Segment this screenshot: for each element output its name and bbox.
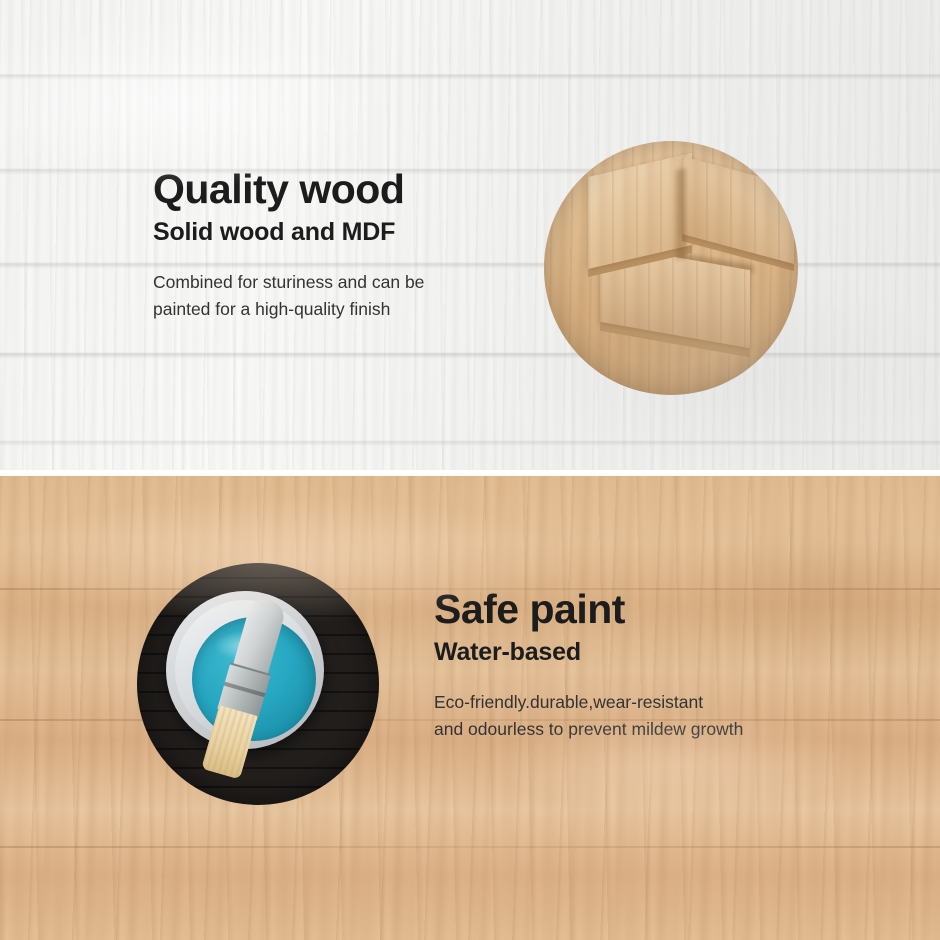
safe-paint-body-line-1: Eco-friendly.durable,wear-resistant — [434, 689, 743, 716]
safe-paint-body-line-2: and odourless to prevent mildew growth — [434, 716, 743, 743]
quality-wood-subhead: Solid wood and MDF — [153, 217, 424, 247]
paint-can-photo — [137, 563, 379, 805]
safe-paint-subhead: Water-based — [434, 637, 743, 667]
panel-quality-wood: Quality wood Solid wood and MDF Combined… — [0, 0, 940, 475]
quality-wood-headline: Quality wood — [153, 168, 424, 211]
product-feature-infographic: Quality wood Solid wood and MDF Combined… — [0, 0, 940, 940]
plank-shadow-vertical — [676, 168, 686, 259]
panel-safe-paint: Safe paint Water-based Eco-friendly.dura… — [0, 476, 940, 940]
quality-wood-body-line-1: Combined for sturiness and can be — [153, 269, 424, 296]
quality-wood-text-block: Quality wood Solid wood and MDF Combined… — [153, 168, 424, 323]
wood-plank-seam — [0, 846, 940, 848]
wood-joint-photo — [544, 141, 798, 395]
quality-wood-body-line-2: painted for a high-quality finish — [153, 296, 424, 323]
safe-paint-body: Eco-friendly.durable,wear-resistant and … — [434, 689, 743, 743]
safe-paint-headline: Safe paint — [434, 588, 743, 631]
quality-wood-body: Combined for sturiness and can be painte… — [153, 269, 424, 323]
safe-paint-text-block: Safe paint Water-based Eco-friendly.dura… — [434, 588, 743, 743]
